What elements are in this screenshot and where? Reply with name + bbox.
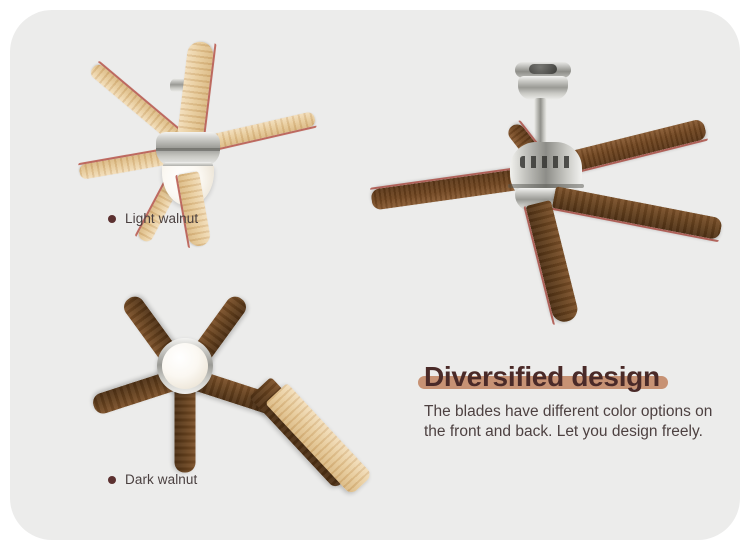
fan-blade-front [552, 186, 723, 240]
vent-slots [520, 156, 572, 168]
headline-wrapper: Diversified design [424, 363, 660, 391]
reversible-blade-pair [258, 368, 418, 498]
label-light-walnut-text: Light walnut [125, 211, 198, 226]
label-light-walnut: Light walnut [108, 211, 198, 226]
label-dark-walnut: Dark walnut [108, 472, 197, 487]
blade-edge [552, 207, 719, 242]
downrod [534, 98, 547, 146]
label-dark-walnut-text: Dark walnut [125, 472, 197, 487]
light-dome [162, 343, 208, 389]
body-copy: The blades have different color options … [424, 402, 724, 443]
bullet-icon [108, 476, 116, 484]
mount-detail [529, 64, 557, 74]
product-banner: Light walnut Dark walnut Diversified des… [0, 0, 750, 550]
housing-band [156, 148, 220, 151]
dark-walnut-ceiling-fan-large [348, 58, 728, 303]
light-walnut-ceiling-fan [38, 62, 338, 222]
blade-sample-light [265, 383, 373, 496]
bullet-icon [108, 215, 116, 223]
marketing-text-block: Diversified design The blades have diffe… [424, 363, 724, 443]
page-title: Diversified design [424, 363, 660, 391]
canopy [518, 76, 568, 100]
